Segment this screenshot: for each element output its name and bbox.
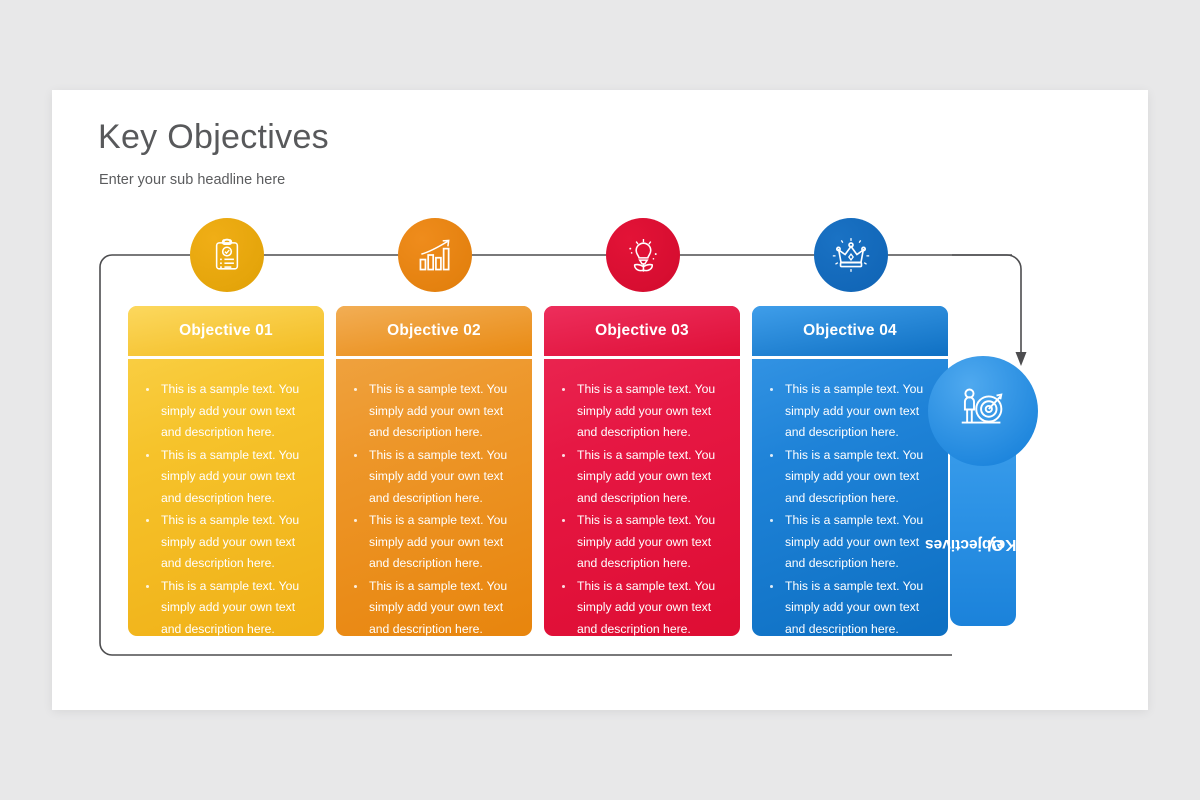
bullet-list: This is a sample text. You simply add yo… — [554, 379, 726, 636]
list-item: This is a sample text. You simply add yo… — [138, 510, 310, 575]
crown-icon — [831, 235, 871, 275]
list-item: This is a sample text. You simply add yo… — [762, 510, 934, 575]
objective-card-4[interactable]: Objective 04 This is a sample text. You … — [752, 306, 948, 636]
milestone-icon-1[interactable] — [190, 218, 264, 292]
bullet-list: This is a sample text. You simply add yo… — [762, 379, 934, 636]
milestone-icon-3[interactable] — [606, 218, 680, 292]
list-item: This is a sample text. You simply add yo… — [346, 576, 518, 637]
objective-card-4-title: Objective 04 — [752, 306, 948, 359]
screenshot-canvas: Key Objectives Enter your sub headline h… — [0, 0, 1200, 800]
list-item: This is a sample text. You simply add yo… — [762, 379, 934, 444]
objective-card-3[interactable]: Objective 03 This is a sample text. You … — [544, 306, 740, 636]
objective-card-1-title: Objective 01 — [128, 306, 324, 359]
page-title: Key Objectives — [98, 118, 329, 157]
list-item: This is a sample text. You simply add yo… — [138, 576, 310, 637]
objective-card-1[interactable]: Objective 01 This is a sample text. You … — [128, 306, 324, 636]
list-item: This is a sample text. You simply add yo… — [554, 576, 726, 637]
key-objectives-badge[interactable]: Key Objectives — [928, 356, 1038, 626]
objective-card-2[interactable]: Objective 02 This is a sample text. You … — [336, 306, 532, 636]
list-item: This is a sample text. You simply add yo… — [554, 445, 726, 510]
badge-label: Key Objectives — [950, 464, 1016, 624]
person-target-archery-icon — [954, 380, 1012, 443]
list-item: This is a sample text. You simply add yo… — [554, 379, 726, 444]
milestone-icon-4[interactable] — [814, 218, 888, 292]
bullet-list: This is a sample text. You simply add yo… — [346, 379, 518, 636]
objective-card-4-body: This is a sample text. You simply add yo… — [752, 359, 948, 636]
objective-card-3-title: Objective 03 — [544, 306, 740, 359]
clipboard-check-icon — [208, 236, 246, 274]
objective-card-2-title: Objective 02 — [336, 306, 532, 359]
milestone-icon-2[interactable] — [398, 218, 472, 292]
list-item: This is a sample text. You simply add yo… — [762, 445, 934, 510]
list-item: This is a sample text. You simply add yo… — [346, 510, 518, 575]
list-item: This is a sample text. You simply add yo… — [346, 445, 518, 510]
bullet-list: This is a sample text. You simply add yo… — [138, 379, 310, 636]
badge-circle — [928, 356, 1038, 466]
badge-label-line2: Objectives — [925, 535, 1003, 554]
list-item: This is a sample text. You simply add yo… — [346, 379, 518, 444]
slide-canvas: Key Objectives Enter your sub headline h… — [52, 90, 1148, 710]
objective-card-1-body: This is a sample text. You simply add yo… — [128, 359, 324, 636]
list-item: This is a sample text. You simply add yo… — [554, 510, 726, 575]
objective-card-2-body: This is a sample text. You simply add yo… — [336, 359, 532, 636]
bar-chart-growth-icon — [415, 235, 455, 275]
objective-card-3-body: This is a sample text. You simply add yo… — [544, 359, 740, 636]
list-item: This is a sample text. You simply add yo… — [762, 576, 934, 637]
list-item: This is a sample text. You simply add yo… — [138, 445, 310, 510]
list-item: This is a sample text. You simply add yo… — [138, 379, 310, 444]
page-subtitle: Enter your sub headline here — [99, 172, 285, 188]
lightbulb-plant-idea-icon — [623, 235, 663, 275]
